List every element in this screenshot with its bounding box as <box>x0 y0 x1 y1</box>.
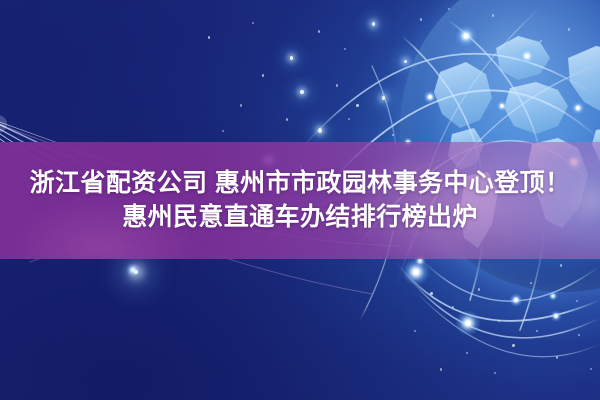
promo-banner: 浙江省配资公司 惠州市市政园林事务中心登顶！ 惠州民意直通车办结排行榜出炉 <box>0 0 600 400</box>
headline-line-1: 浙江省配资公司 惠州市市政园林事务中心登顶！ <box>30 171 571 196</box>
headline-line-2: 惠州民意直通车办结排行榜出炉 <box>122 205 478 230</box>
headline-block: 浙江省配资公司 惠州市市政园林事务中心登顶！ 惠州民意直通车办结排行榜出炉 <box>0 142 600 259</box>
